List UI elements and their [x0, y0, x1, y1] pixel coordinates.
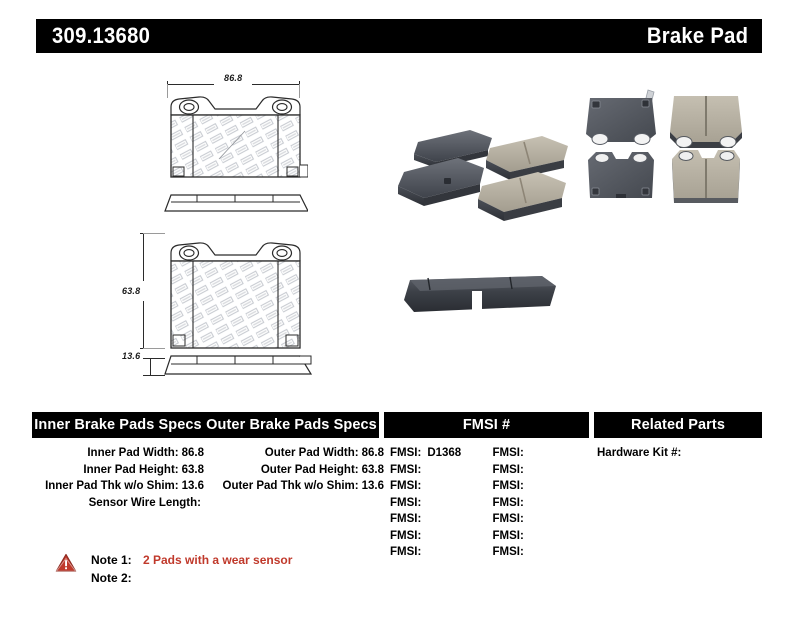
- column-header-inner-specs: Inner Brake Pads Specs: [32, 412, 204, 438]
- fmsi-label: FMSI:: [390, 530, 421, 542]
- fmsi-row: FMSI:: [390, 478, 487, 495]
- outer-specs-column: Outer Pad Width:86.8 Outer Pad Height:63…: [204, 445, 384, 561]
- spec-label: Inner Pad Height:: [83, 464, 178, 476]
- spec-row: Inner Pad Thk w/o Shim:13.6: [32, 478, 204, 495]
- spec-value: 63.8: [359, 464, 384, 476]
- fmsi-row: FMSI:: [390, 462, 487, 479]
- fmsi-value: [421, 480, 427, 492]
- fmsi-value: [524, 513, 530, 525]
- spec-label: Inner Pad Thk w/o Shim:: [45, 480, 179, 492]
- fmsi-label: FMSI:: [493, 513, 524, 525]
- spec-row: Inner Pad Height:63.8: [32, 462, 204, 479]
- fmsi-value: [524, 464, 530, 476]
- related-part-label: Hardware Kit #:: [597, 447, 681, 459]
- header-bar: 309.13680 Brake Pad: [36, 19, 762, 53]
- spec-value: 13.6: [179, 480, 204, 492]
- specifications-table: Inner Brake Pads Specs Outer Brake Pads …: [32, 412, 762, 561]
- technical-drawing-panel: 86.8: [0, 55, 380, 385]
- fmsi-label: FMSI:: [390, 513, 421, 525]
- angled-brake-pad-set-photo: [392, 110, 582, 235]
- fmsi-value: [421, 530, 427, 542]
- fmsi-value: [524, 480, 530, 492]
- fmsi-label: FMSI:: [493, 530, 524, 542]
- note-label: Note 1:: [91, 551, 143, 569]
- related-parts-column: Hardware Kit #:: [589, 445, 757, 561]
- fmsi-value: [421, 513, 427, 525]
- fmsi-row: FMSI:D1368: [390, 445, 487, 462]
- fmsi-label: FMSI:: [390, 546, 421, 558]
- brake-pad-edge-view: [163, 354, 315, 380]
- spec-row: Inner Pad Width:86.8: [32, 445, 204, 462]
- note-row: Note 1:2 Pads with a wear sensor: [91, 551, 292, 569]
- fmsi-row: FMSI:: [493, 478, 590, 495]
- fmsi-row: FMSI:: [493, 528, 590, 545]
- spec-value: 63.8: [179, 464, 204, 476]
- product-type-title: Brake Pad: [646, 23, 748, 49]
- fmsi-row: FMSI:: [493, 445, 590, 462]
- fmsi-row: FMSI:: [493, 495, 590, 512]
- fmsi-row: FMSI:: [390, 544, 487, 561]
- fmsi-row: FMSI:: [390, 495, 487, 512]
- column-header-related-parts: Related Parts: [594, 412, 762, 438]
- fmsi-row: FMSI:: [493, 511, 590, 528]
- fmsi-label: FMSI:: [493, 497, 524, 509]
- height-dimension-label: 63.8: [122, 286, 140, 296]
- table-body: Inner Pad Width:86.8 Inner Pad Height:63…: [32, 438, 762, 561]
- note-value: 2 Pads with a wear sensor: [143, 553, 292, 567]
- notes-section: Note 1:2 Pads with a wear sensor Note 2:: [55, 551, 292, 587]
- spec-value: 86.8: [179, 447, 204, 459]
- fmsi-value: [524, 447, 530, 459]
- fmsi-value: [524, 497, 530, 509]
- spec-value: 13.6: [359, 480, 384, 492]
- spec-row: Sensor Wire Length:: [32, 495, 204, 512]
- fmsi-label: FMSI:: [493, 480, 524, 492]
- spec-label: Outer Pad Height:: [261, 464, 359, 476]
- spec-row: Outer Pad Height:63.8: [204, 462, 384, 479]
- spec-label: Inner Pad Width:: [87, 447, 178, 459]
- spec-row: Outer Pad Width:86.8: [204, 445, 384, 462]
- fmsi-label: FMSI:: [390, 447, 421, 459]
- column-header-fmsi: FMSI #: [384, 412, 589, 438]
- spec-label: Outer Pad Width:: [265, 447, 359, 459]
- spec-value: 86.8: [359, 447, 384, 459]
- fmsi-value: [421, 464, 427, 476]
- fmsi-row: FMSI:: [390, 511, 487, 528]
- fmsi-subcolumn-right: FMSI: FMSI: FMSI: FMSI: FMSI: FMSI:: [487, 445, 590, 561]
- spec-label: Outer Pad Thk w/o Shim:: [223, 480, 359, 492]
- flat-brake-pad-set-photo: [582, 84, 752, 206]
- fmsi-label: FMSI:: [493, 546, 524, 558]
- warning-triangle-icon: [55, 553, 77, 578]
- fmsi-label: FMSI:: [493, 447, 524, 459]
- spec-label: Sensor Wire Length:: [89, 497, 201, 509]
- fmsi-label: FMSI:: [390, 497, 421, 509]
- fmsi-row: FMSI:: [493, 462, 590, 479]
- brake-pad-top-edge-view: [163, 193, 308, 217]
- fmsi-value: [421, 497, 427, 509]
- brake-pad-edge-photo: [400, 272, 560, 330]
- brake-pad-rear-view: [163, 231, 308, 351]
- table-header-row: Inner Brake Pads Specs Outer Brake Pads …: [32, 412, 762, 438]
- part-number: 309.13680: [52, 23, 150, 49]
- inner-specs-column: Inner Pad Width:86.8 Inner Pad Height:63…: [32, 445, 204, 561]
- fmsi-subcolumn-left: FMSI:D1368 FMSI: FMSI: FMSI: FMSI: FMSI:: [384, 445, 487, 561]
- column-header-outer-specs: Outer Brake Pads Specs: [204, 412, 379, 438]
- note-row: Note 2:: [91, 569, 292, 587]
- fmsi-value: [524, 546, 530, 558]
- fmsi-column: FMSI:D1368 FMSI: FMSI: FMSI: FMSI: FMSI:: [384, 445, 589, 561]
- fmsi-row: FMSI:: [493, 544, 590, 561]
- thickness-dimension-label: 13.6: [122, 351, 140, 361]
- fmsi-row: FMSI:: [390, 528, 487, 545]
- related-part-row: Hardware Kit #:: [589, 445, 757, 462]
- fmsi-value: [524, 530, 530, 542]
- fmsi-label: FMSI:: [390, 480, 421, 492]
- fmsi-label: FMSI:: [390, 464, 421, 476]
- brake-pad-front-view: [163, 87, 308, 192]
- notes-list: Note 1:2 Pads with a wear sensor Note 2:: [91, 551, 292, 587]
- fmsi-label: FMSI:: [493, 464, 524, 476]
- fmsi-value: D1368: [421, 447, 461, 459]
- note-label: Note 2:: [91, 569, 143, 587]
- fmsi-value: [421, 546, 427, 558]
- spec-row: Outer Pad Thk w/o Shim:13.6: [204, 478, 384, 495]
- width-dimension-label: 86.8: [224, 73, 242, 83]
